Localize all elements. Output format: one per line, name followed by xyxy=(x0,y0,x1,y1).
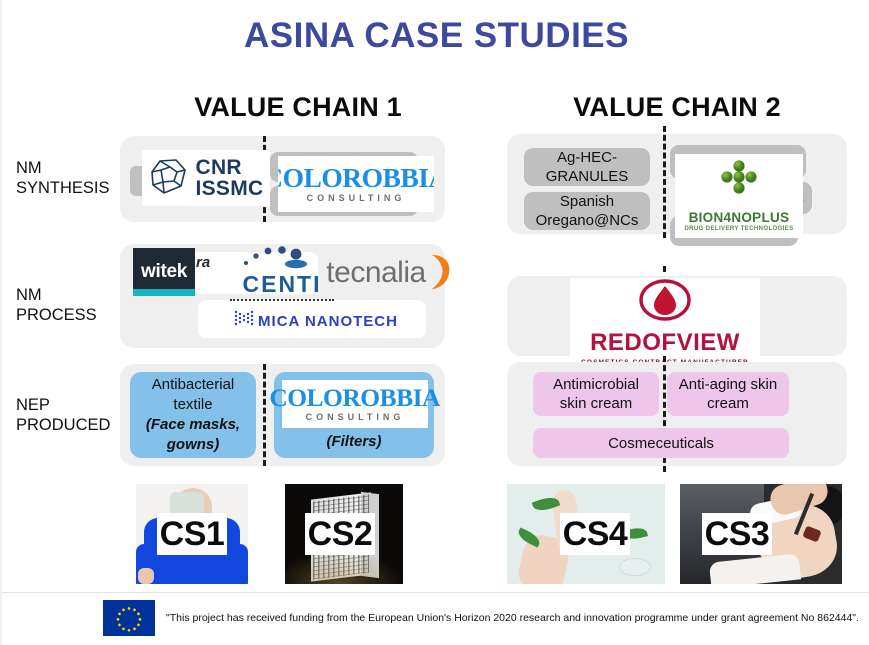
witek-wordmark: witek xyxy=(141,261,187,283)
pink-line2: skin cream xyxy=(553,394,639,413)
value-chain-1-heading: VALUE CHAIN 1 xyxy=(128,92,468,123)
red-droplet-icon xyxy=(637,309,693,326)
row-label-nm-synthesis: NM SYNTHESIS xyxy=(16,158,120,198)
pill-line2: GRANULES xyxy=(546,167,629,186)
nurse-arm-right xyxy=(226,544,248,584)
tecnalia-wordmark: tecnalia xyxy=(326,256,425,290)
pink-antimicrobial-skin-cream: Antimicrobial skin cream xyxy=(533,372,659,416)
slide-canvas: ASINA CASE STUDIES VALUE CHAIN 1 VALUE C… xyxy=(0,0,869,645)
nep-filters-caption: (Filters) xyxy=(326,432,381,452)
redofview-wordmark: REDOFVIEW xyxy=(581,329,749,357)
colorobbia-tagline: CONSULTING xyxy=(271,413,438,422)
pink-line2: cream xyxy=(679,394,777,413)
row-label-line1: NEP xyxy=(16,395,120,415)
vc1-nep-divider xyxy=(263,364,266,466)
row-label-line2: SYNTHESIS xyxy=(16,178,120,198)
row-label-nm-process: NM PROCESS xyxy=(16,285,120,325)
centi-underline xyxy=(230,299,334,301)
nep-box-line3: (Face masks, xyxy=(146,415,240,435)
redofview-logo: REDOFVIEW COSMETICS CONTRACT MANUFACTURE… xyxy=(570,278,760,366)
witek-logo: witek xyxy=(133,248,195,296)
pink-cosmeceuticals: Cosmeceuticals xyxy=(533,428,789,458)
bionanoplus-wordmark: BION4NOPLUS xyxy=(684,210,793,225)
row-label-line1: NM xyxy=(16,158,120,178)
green-cross-dots-icon xyxy=(711,189,767,206)
polyhedron-icon xyxy=(148,156,188,201)
cnr-line2: ISSMC xyxy=(195,178,263,199)
eu-flag-icon xyxy=(103,600,155,636)
pill-line2: Oregano@NCs xyxy=(536,211,639,230)
tecnalia-swoosh-icon xyxy=(426,251,454,296)
funding-disclaimer: "This project has received funding from … xyxy=(166,612,859,624)
nep-colorobbia-filters-box: COLOROBBIA CONSULTING (Filters) xyxy=(274,372,434,458)
cnr-issmc-logo: CNR ISSMC xyxy=(142,150,270,206)
mica-nanotech-logo: MICA NANOTECH xyxy=(226,308,406,334)
cs3-label: CS3 xyxy=(702,513,772,555)
colorobbia-logo-synthesis: COLOROBBIA CONSULTING xyxy=(278,156,434,212)
nep-box-line1: Antibacterial xyxy=(152,375,235,395)
row-label-line2: PRODUCED xyxy=(16,415,120,435)
pill-spanish-oregano-ncs: Spanish Oregano@NCs xyxy=(524,192,650,230)
bionanoplus-logo: BION4NOPLUS DRUG DELIVERY TECHNOLOGIES xyxy=(675,154,803,238)
nep-box-line2: textile xyxy=(173,395,212,415)
row-label-line1: NM xyxy=(16,285,120,305)
colorobbia-wordmark: COLOROBBIA xyxy=(270,386,441,411)
page-title: ASINA CASE STUDIES xyxy=(2,16,869,56)
cs1-label: CS1 xyxy=(157,513,227,555)
row-label-line2: PROCESS xyxy=(16,305,120,325)
vc2-synthesis-divider xyxy=(663,126,666,238)
mica-dotted-m-icon xyxy=(234,309,254,334)
pill-line1: Spanish xyxy=(536,192,639,211)
cream-jar xyxy=(619,558,651,576)
bionanoplus-tagline: DRUG DELIVERY TECHNOLOGIES xyxy=(684,226,793,232)
nurse-hand xyxy=(138,568,154,584)
value-chain-2-heading: VALUE CHAIN 2 xyxy=(507,92,847,123)
filter-glow xyxy=(285,550,403,584)
tecnalia-logo: tecnalia xyxy=(320,250,460,296)
pink-anti-aging-skin-cream: Anti-aging skin cream xyxy=(667,372,789,416)
mica-wordmark: MICA NANOTECH xyxy=(258,313,398,330)
colorobbia-tagline: CONSULTING xyxy=(278,194,434,203)
cnr-issmc-text: CNR ISSMC xyxy=(195,157,263,199)
cnr-line1: CNR xyxy=(195,157,263,178)
nep-antibacterial-textile-box: Antibacterial textile (Face masks, gowns… xyxy=(130,372,256,458)
cs4-label: CS4 xyxy=(560,513,630,555)
partial-logo-text: ra xyxy=(196,254,210,271)
colorobbia-logo-nep: COLOROBBIA CONSULTING xyxy=(282,380,428,428)
cs2-label: CS2 xyxy=(305,513,375,555)
pill-line1: Ag-HEC- xyxy=(546,148,629,167)
row-label-nep-produced: NEP PRODUCED xyxy=(16,395,120,435)
footer-divider xyxy=(2,592,869,593)
pink-line1: Anti-aging skin xyxy=(679,375,777,394)
pink-line1: Antimicrobial xyxy=(553,375,639,394)
pill-ag-hec-granules: Ag-HEC- GRANULES xyxy=(524,148,650,186)
witek-accent-bar xyxy=(133,289,195,296)
colorobbia-wordmark: COLOROBBIA xyxy=(278,165,434,192)
nep-box-line4: gowns) xyxy=(167,435,220,455)
